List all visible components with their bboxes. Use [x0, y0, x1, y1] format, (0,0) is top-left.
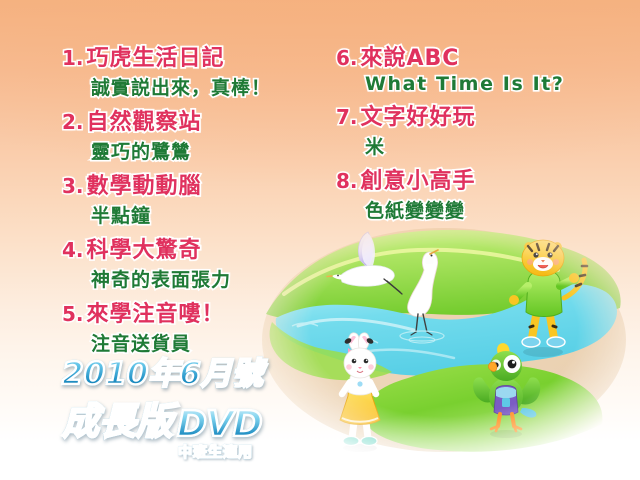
age-note: 中班生適用: [178, 442, 322, 462]
episode-number: 4.: [62, 238, 84, 262]
episode-title-row: 4. 科學大驚奇: [62, 232, 330, 264]
episode-number: 3.: [62, 174, 84, 198]
episode-title: 文字好好玩: [361, 99, 476, 131]
episode-number: 1.: [62, 46, 84, 70]
episode-number: 5.: [62, 302, 84, 326]
episode-subtitle: 色紙變變變: [365, 196, 616, 223]
episode-number: 6.: [336, 46, 358, 70]
episode-item[interactable]: 6. 來說ABC What Time Is It?: [336, 40, 616, 95]
episode-title: 創意小高手: [361, 163, 476, 195]
episode-number: 2.: [62, 110, 84, 134]
episode-title: 巧虎生活日記: [87, 40, 225, 72]
episode-title: 自然觀察站: [87, 104, 202, 136]
episode-title-row: 3. 數學動動腦: [62, 168, 330, 200]
episode-item[interactable]: 8. 創意小高手 色紙變變變: [336, 163, 616, 223]
headline-block: 2010年6月號 成長版 DVD 中班生適用: [62, 348, 322, 462]
episode-item[interactable]: 3. 數學動動腦 半點鐘: [62, 168, 330, 228]
episode-title-row: 1. 巧虎生活日記: [62, 40, 330, 72]
episode-title-row: 6. 來說ABC: [336, 40, 616, 72]
episode-list-right: 6. 來說ABC What Time Is It? 7. 文字好好玩 米 8. …: [336, 40, 616, 227]
episode-title-row: 8. 創意小高手: [336, 163, 616, 195]
episode-subtitle: What Time Is It?: [365, 73, 616, 95]
episode-number: 7.: [336, 105, 358, 129]
episode-title: 來說ABC: [361, 40, 460, 72]
episode-subtitle: 半點鐘: [91, 201, 330, 228]
episode-item[interactable]: 5. 來學注音嘍！ 注音送貨員: [62, 296, 330, 356]
episode-item[interactable]: 4. 科學大驚奇 神奇的表面張力: [62, 232, 330, 292]
format-label: DVD: [177, 404, 262, 445]
issue-date: 2010年6月號: [62, 348, 322, 393]
episode-item[interactable]: 7. 文字好好玩 米: [336, 99, 616, 159]
edition-label: 成長版: [62, 391, 173, 445]
episode-subtitle: 靈巧的鷺鷥: [91, 137, 330, 164]
episode-subtitle: 誠實説出來，真棒！: [91, 73, 330, 100]
episode-title-row: 2. 自然觀察站: [62, 104, 330, 136]
episode-title: 科學大驚奇: [87, 232, 202, 264]
dvd-cover-screen: 1. 巧虎生活日記 誠實説出來，真棒！ 2. 自然觀察站 靈巧的鷺鷥 3. 數學…: [0, 0, 640, 480]
episode-title-row: 5. 來學注音嘍！: [62, 296, 330, 328]
episode-item[interactable]: 1. 巧虎生活日記 誠實説出來，真棒！: [62, 40, 330, 100]
episode-subtitle: 神奇的表面張力: [91, 265, 330, 292]
episode-title: 數學動動腦: [87, 168, 202, 200]
episode-list-left: 1. 巧虎生活日記 誠實説出來，真棒！ 2. 自然觀察站 靈巧的鷺鷥 3. 數學…: [62, 40, 330, 360]
episode-item[interactable]: 2. 自然觀察站 靈巧的鷺鷥: [62, 104, 330, 164]
episode-number: 8.: [336, 169, 358, 193]
episode-subtitle: 米: [365, 132, 616, 159]
edition-row: 成長版 DVD: [62, 391, 322, 445]
episode-title-row: 7. 文字好好玩: [336, 99, 616, 131]
episode-title: 來學注音嘍！: [87, 296, 225, 328]
